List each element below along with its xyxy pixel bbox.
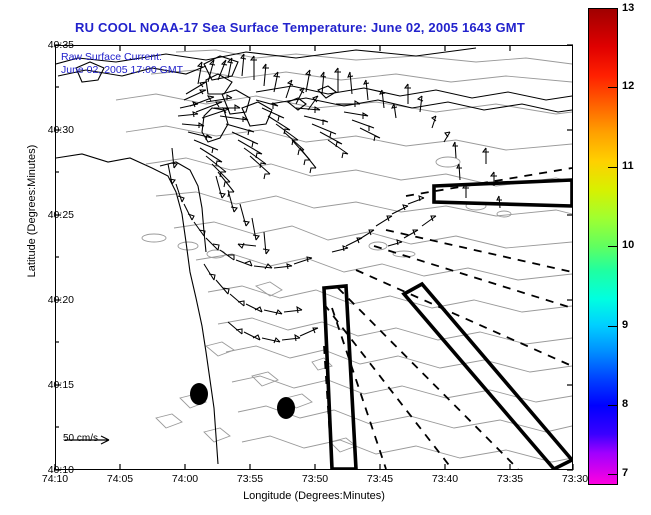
sst-map-figure: RU COOL NOAA-17 Sea Surface Temperature:…: [0, 0, 651, 515]
x-axis-label: Longitude (Degrees:Minutes): [55, 490, 573, 502]
colorbar-tickmark-11: [608, 167, 618, 168]
axis-tick-marks: [0, 0, 651, 515]
colorbar-tick-7: 7: [622, 467, 628, 479]
colorbar-tick-13: 13: [622, 2, 634, 14]
colorbar-tickmark-7: [608, 474, 618, 475]
colorbar-tickmark-13: [608, 8, 618, 9]
colorbar-tick-12: 12: [622, 80, 634, 92]
colorbar-tickmark-12: [608, 87, 618, 88]
y-axis-label: Latitude (Degrees:Minutes): [26, 101, 38, 321]
colorbar-tick-11: 11: [622, 160, 634, 172]
colorbar-tick-10: 10: [622, 239, 634, 251]
colorbar-tick-9: 9: [622, 319, 628, 331]
colorbar-tickmark-10: [608, 246, 618, 247]
colorbar-tick-8: 8: [622, 398, 628, 410]
colorbar-tickmark-8: [608, 405, 618, 406]
colorbar-tickmark-9: [608, 326, 618, 327]
